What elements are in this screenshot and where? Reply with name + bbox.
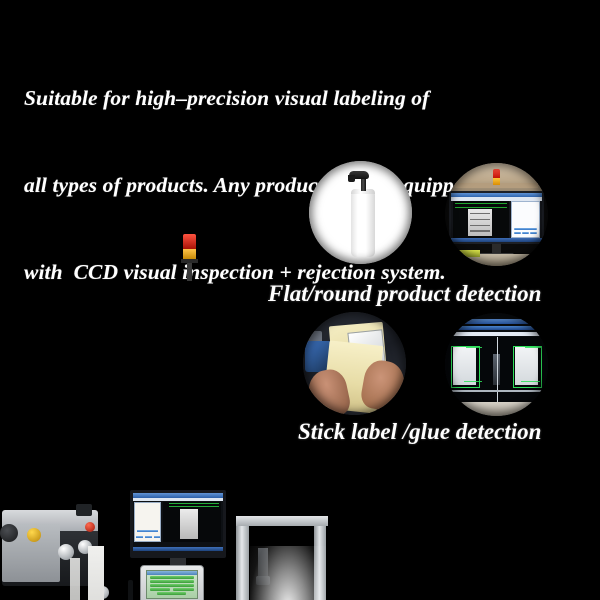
detection-readout [525,347,541,350]
detection-readout [466,347,482,350]
applicator-stop-button[interactable] [85,522,95,532]
applicator-dial [0,524,18,542]
software-taskbar [451,238,542,242]
hmi-touchscreen[interactable] [146,570,198,599]
tower-light-amber [183,249,196,259]
hmi-menu-row[interactable] [150,584,194,587]
bottle-body [351,192,375,257]
gantry-column-left [236,516,249,600]
software-button [514,232,521,234]
software-button [514,228,537,230]
headline-line-1: Suitable for high–precision visual label… [24,84,584,113]
label-web [88,546,104,600]
software-right-panel [511,201,540,238]
keyboard [449,250,480,257]
detection-readout [521,381,540,384]
software-button [522,232,529,234]
software-image-viewport [453,201,509,238]
hmi-menu-row[interactable] [150,588,170,591]
bottle-pump-spout [348,175,355,181]
label-print-line [470,225,490,226]
software-menubar [133,498,223,501]
tower-light-amber-icon [493,178,500,184]
inset-vision-monitor [445,163,548,266]
label-print-line [470,230,490,231]
hmi-menu-row[interactable] [157,592,186,595]
hmi-titlebar [147,571,197,575]
software-titlebar [445,319,548,324]
label-web [70,558,80,600]
software-button [530,232,537,234]
detection-readout [464,381,483,384]
yellow-adjust-knob[interactable] [27,528,41,542]
gantry-crossbeam [236,516,328,526]
software-button [137,530,159,533]
hmi-menu-row[interactable] [150,576,194,579]
software-green-readout [169,503,219,508]
hmi-menu-row[interactable] [173,588,194,591]
software-green-readout [455,203,507,209]
inset-label-sheet [303,312,406,415]
promo-image: Suitable for high–precision visual label… [0,0,600,600]
software-menubar [445,332,548,336]
inspected-product-image [180,509,198,539]
caption-stick-label-glue-detection: Stick label /glue detection [298,419,541,445]
monitor-screen [133,493,223,551]
tower-light-red-icon [493,169,500,178]
software-toolbar [445,326,548,330]
software-menubar [451,197,542,200]
software-image-viewport [445,337,548,402]
tower-light-pole [187,263,192,281]
applicator-sensor-block [76,504,92,516]
inspected-label-image [468,209,493,235]
hmi-menu-row[interactable] [150,580,194,583]
inset-pump-bottle [309,161,412,264]
software-taskbar [133,547,223,551]
cable [128,580,133,600]
software-button [154,536,160,538]
caption-flat-round-product-detection: Flat/round product detection [268,281,541,307]
viewport-divider-horizontal [445,390,548,393]
inset-dual-label-detection [445,313,548,416]
label-print-line [470,219,490,220]
tower-light-red [183,234,196,249]
label-print-line [470,213,490,214]
inspection-led-light [250,546,326,600]
software-footer [445,402,548,416]
monitor-frame [449,191,544,245]
software-button [136,536,143,538]
software-button [145,536,152,538]
